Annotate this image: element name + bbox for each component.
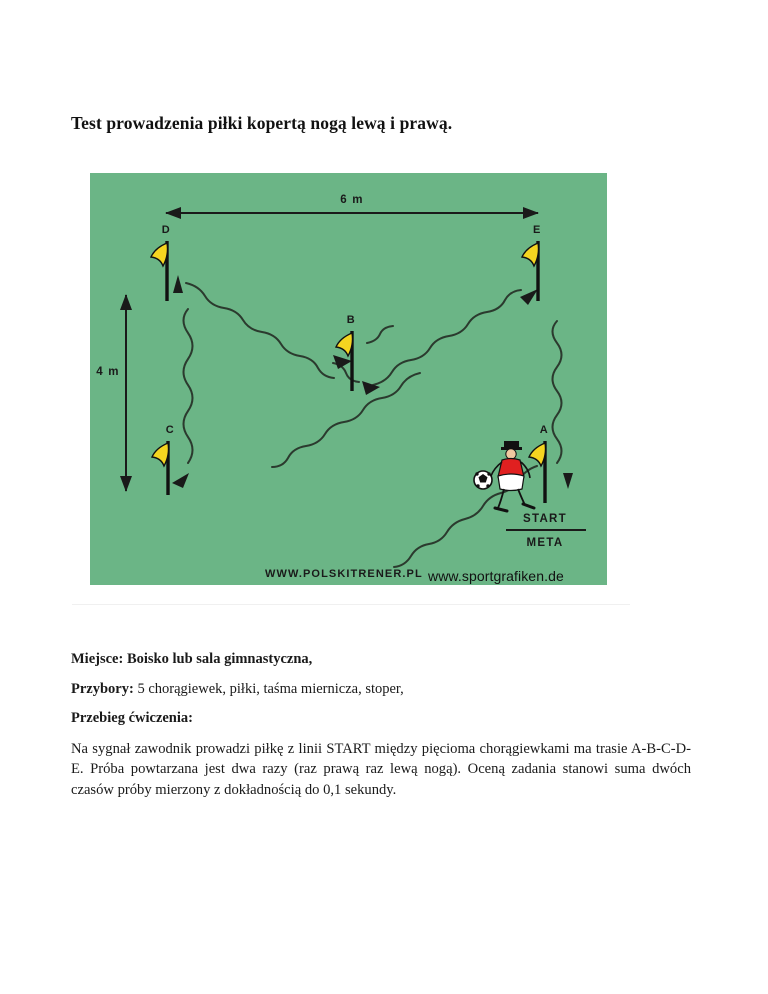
drill-diagram-figure: 6 m 4 m [90,173,607,585]
document-page: Test prowadzenia piłki kopertą nogą lewą… [0,0,768,994]
equipment-value: 5 chorągiewek, piłki, taśma miernicza, s… [134,681,404,697]
flag-label-a: A [540,424,549,436]
soccer-ball [474,471,492,489]
place-line: Miejsce: Boisko lub sala gimnastyczna, [71,650,693,669]
place-value: Boisko lub sala gimnastyczna, [123,651,312,667]
player-shorts [498,474,524,491]
width-dimension-label: 6 m [340,194,363,206]
details-block: Miejsce: Boisko lub sala gimnastyczna, P… [71,650,693,801]
page-title: Test prowadzenia piłki kopertą nogą lewą… [71,113,691,134]
height-dimension-label: 4 m [96,366,119,378]
watermark-sportgrafiken: www.sportgrafiken.de [427,568,564,584]
player-head [506,449,516,459]
player-hat [504,441,519,448]
watermark-polskitrener: WWW.POLSKITRENER.PL [265,568,423,580]
equipment-lead: Przybory: [71,681,134,697]
flag-label-c: C [166,424,175,436]
procedure-heading: Przebieg ćwiczenia: [71,709,693,728]
figure-separator-rule [72,604,630,605]
finish-label: META [527,537,564,549]
flag-label-b: B [347,314,356,326]
place-lead: Miejsce: [71,651,123,667]
flag-label-d: D [162,224,171,236]
flag-label-e: E [533,224,541,236]
procedure-text: Na sygnał zawodnik prowadzi piłkę z lini… [71,739,691,801]
equipment-line: Przybory: 5 chorągiewek, piłki, taśma mi… [71,680,693,699]
start-label: START [523,513,567,525]
drill-diagram-svg: 6 m 4 m [90,173,607,585]
